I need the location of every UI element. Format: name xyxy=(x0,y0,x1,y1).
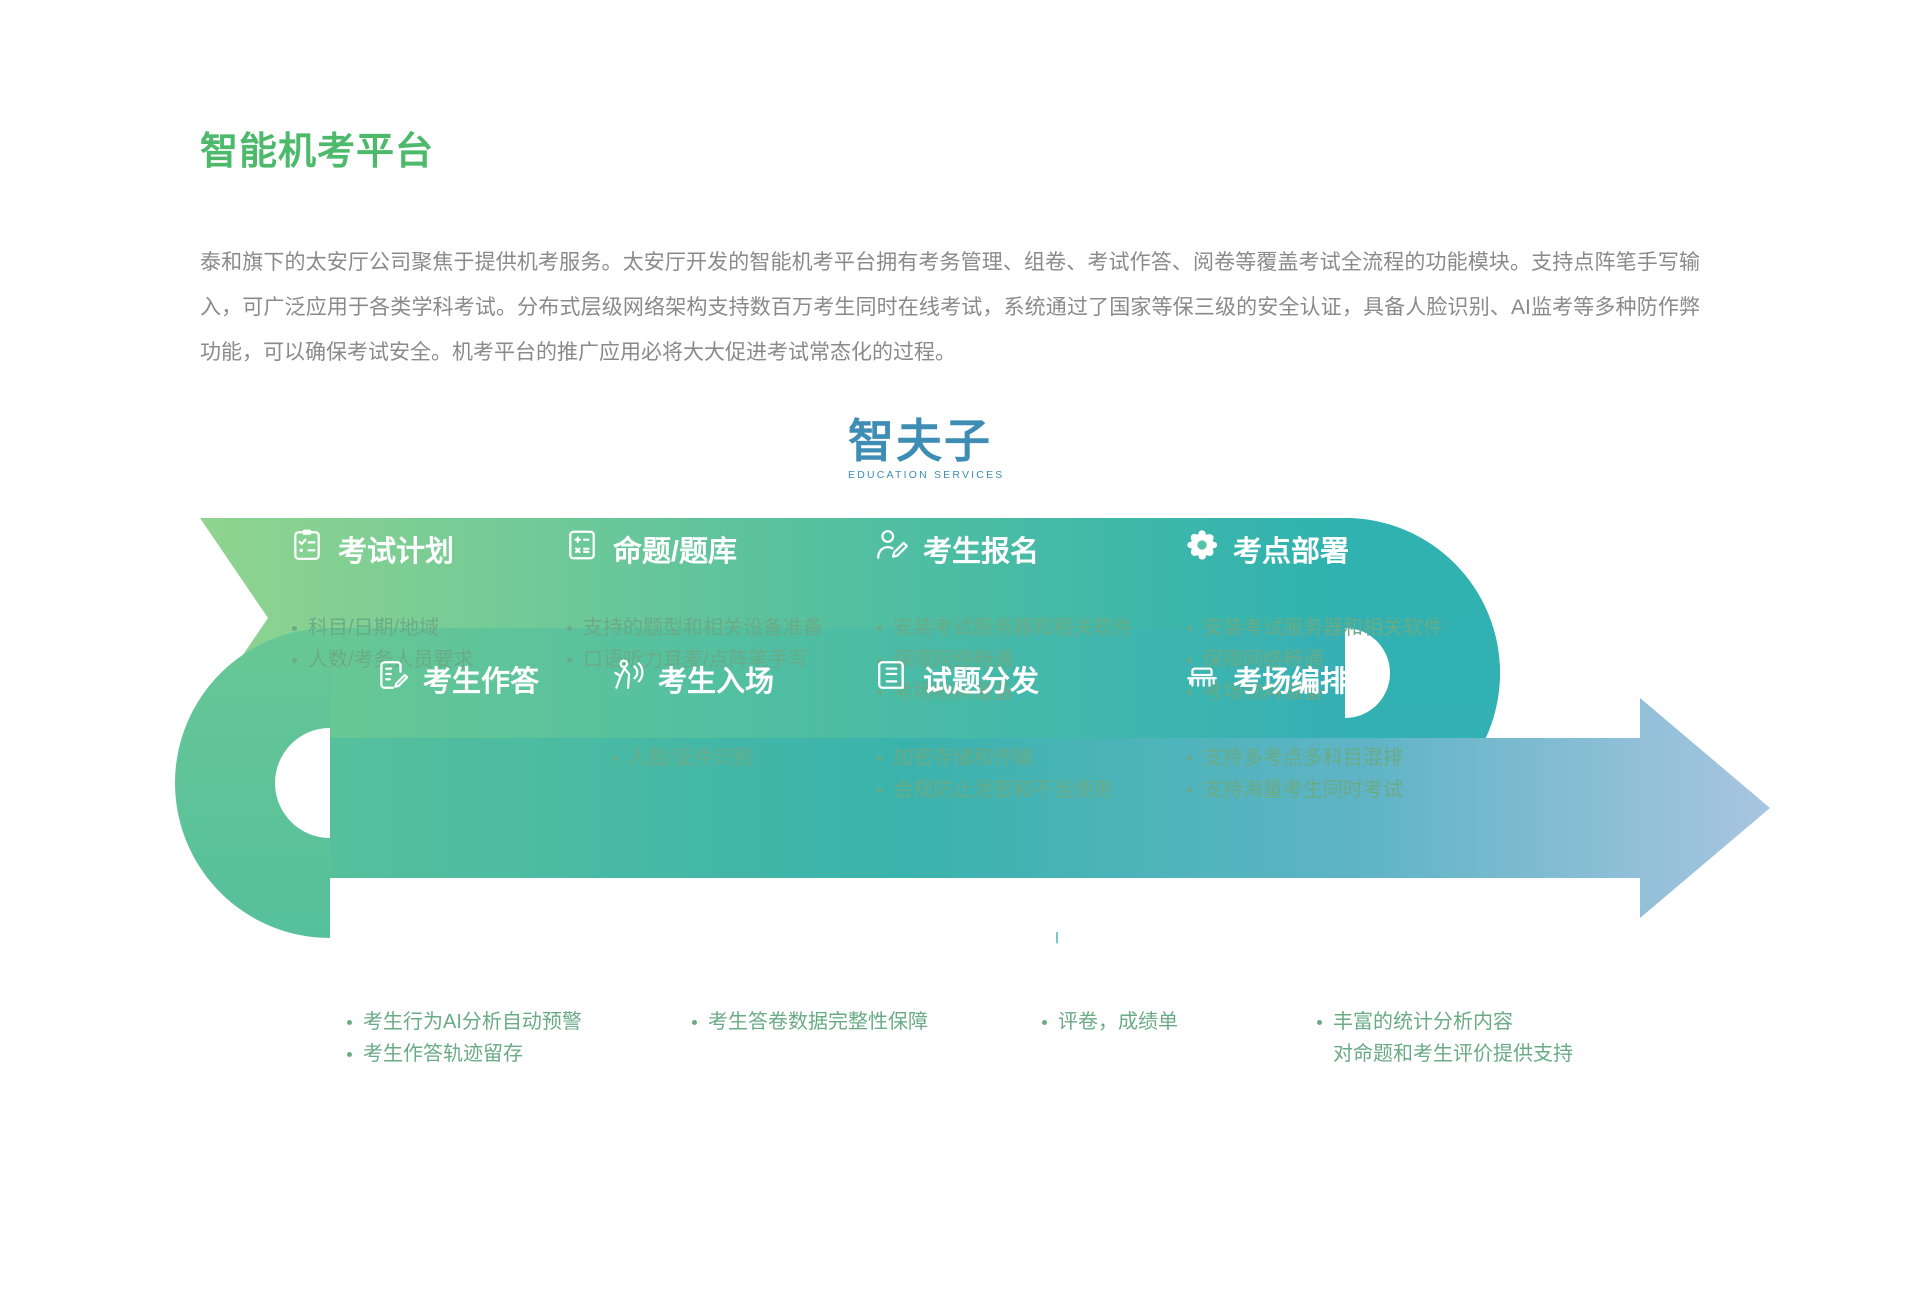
flow-step-video-ai-proctoring[interactable]: 视频 AI 监考 考生行为AI分析自动预警 考生作答轨迹留存 xyxy=(345,922,645,1086)
list-item: 加密存储和传输 xyxy=(875,742,1165,774)
logo-subtitle-text: EDUCATION SERVICES xyxy=(848,469,988,481)
intro-paragraph: 泰和旗下的太安厅公司聚焦于提供机考服务。太安厅开发的智能机考平台拥有考务管理、组… xyxy=(200,240,1700,375)
flow-step-label: 视频 AI 监考 xyxy=(393,922,554,964)
book-monitor-icon xyxy=(1040,926,1074,960)
flow-step-statistical-analysis[interactable]: 统计分析 丰富的统计分析内容 对命题和考生评价提供支持 xyxy=(1315,922,1645,1086)
flow-step-header: 考生入场 xyxy=(610,658,860,700)
brand-logo: 智夫子 EDUCATION SERVICES xyxy=(848,415,988,481)
flow-step-header: 答卷回收 xyxy=(690,922,990,964)
list-item-line-1: 丰富的统计分析内容 xyxy=(1333,1011,1513,1033)
flow-step-answer-collection[interactable]: 答卷回收 考生答卷数据完整性保障 xyxy=(690,922,990,1054)
flow-step-bullets: 考生答卷数据完整性保障 xyxy=(690,1006,990,1038)
clipboard-checklist-icon xyxy=(290,532,324,566)
person-edit-icon xyxy=(875,532,909,566)
flow-step-label: 试题分发 xyxy=(923,658,1039,700)
person-walking-icon xyxy=(610,662,644,696)
list-item: 考生答卷数据完整性保障 xyxy=(690,1006,990,1038)
inbox-icon xyxy=(690,926,724,960)
list-item: 安装考试服务器和相关软件 xyxy=(875,612,1175,644)
flow-step-header: 考生作答 xyxy=(375,658,625,700)
flow-step-bullets: 人脸/证件识别 xyxy=(610,742,860,774)
flow-step-online-marking[interactable]: 网络评卷 评卷，成绩单 xyxy=(1040,922,1330,1054)
flow-step-bullets: 丰富的统计分析内容 对命题和考生评价提供支持 xyxy=(1315,1006,1645,1070)
flow-step-label: 考试计划 xyxy=(338,528,454,570)
flow-step-header: 考试计划 xyxy=(290,528,520,570)
list-item: 评卷，成绩单 xyxy=(1040,1006,1330,1038)
flow-step-header: 考生报名 xyxy=(875,528,1175,570)
list-item: 支持海量考生同时考试 xyxy=(1185,774,1475,806)
list-item: 考生作答轨迹留存 xyxy=(345,1038,645,1070)
calculator-icon xyxy=(565,532,599,566)
flow-step-header: 视频 AI 监考 xyxy=(345,922,645,964)
page-title: 智能机考平台 xyxy=(200,120,434,175)
document-pen-icon xyxy=(375,662,409,696)
flow-step-bullets: 加密存储和传输 合规防止泄密和不当使用 xyxy=(875,742,1165,806)
flow-step-label: 答卷回收 xyxy=(738,922,854,964)
flow-step-label: 考点部署 xyxy=(1233,528,1349,570)
flow-step-bullets: 评卷，成绩单 xyxy=(1040,1006,1330,1038)
flow-step-label: 考生入场 xyxy=(658,658,774,700)
flow-step-label: 命题/题库 xyxy=(613,528,737,570)
process-flow-diagram: 考试计划 科目/日期/地域 人数/考务人员要求 命题/题库 xyxy=(0,500,1920,1260)
list-item: 人脸/证件识别 xyxy=(610,742,860,774)
flow-step-bullets: 支持多考点多科目混排 支持海量考生同时考试 xyxy=(1185,742,1475,806)
list-item: 科目/日期/地域 xyxy=(290,612,520,644)
infographic-page: 智能机考平台 泰和旗下的太安厅公司聚焦于提供机考服务。太安厅开发的智能机考平台拥… xyxy=(0,0,1920,1292)
list-item: 丰富的统计分析内容 对命题和考生评价提供支持 xyxy=(1315,1006,1645,1070)
list-item: 安装考试服务器和相关软件 xyxy=(1185,612,1485,644)
flow-step-label: 考场编排 xyxy=(1233,658,1349,700)
flow-step-header: 命题/题库 xyxy=(565,528,855,570)
chart-search-icon xyxy=(1315,926,1349,960)
list-item: 支持的题型和相关设备准备 xyxy=(565,612,855,644)
flow-step-paper-distribution[interactable]: 试题分发 加密存储和传输 合规防止泄密和不当使用 xyxy=(875,658,1165,822)
flow-step-header: 考场编排 xyxy=(1185,658,1475,700)
list-item: 考生行为AI分析自动预警 xyxy=(345,1006,645,1038)
flow-step-label: 考生作答 xyxy=(423,658,539,700)
seating-chart-icon xyxy=(1185,662,1219,696)
flow-step-label: 统计分析 xyxy=(1363,922,1479,964)
list-item-line-2: 对命题和考生评价提供支持 xyxy=(1333,1038,1645,1070)
ai-frame-icon xyxy=(345,926,379,960)
list-item: 合规防止泄密和不当使用 xyxy=(875,774,1165,806)
scroll-icon xyxy=(875,662,909,696)
flow-step-label: 考生报名 xyxy=(923,528,1039,570)
flow-step-bullets: 考生行为AI分析自动预警 考生作答轨迹留存 xyxy=(345,1006,645,1070)
flow-step-label: 网络评卷 xyxy=(1088,922,1204,964)
flow-step-header: 网络评卷 xyxy=(1040,922,1330,964)
flow-step-header: 试题分发 xyxy=(875,658,1165,700)
logo-mark-text: 智夫子 xyxy=(848,415,988,467)
list-item: 支持多考点多科目混排 xyxy=(1185,742,1475,774)
gear-icon xyxy=(1185,532,1219,566)
flow-step-header: 统计分析 xyxy=(1315,922,1645,964)
flow-step-header: 考点部署 xyxy=(1185,528,1485,570)
flow-step-candidate-answering[interactable]: 考生作答 xyxy=(375,658,625,700)
flow-step-room-scheduling[interactable]: 考场编排 支持多考点多科目混排 支持海量考生同时考试 xyxy=(1185,658,1475,822)
flow-step-candidate-entry[interactable]: 考生入场 人脸/证件识别 xyxy=(610,658,860,790)
